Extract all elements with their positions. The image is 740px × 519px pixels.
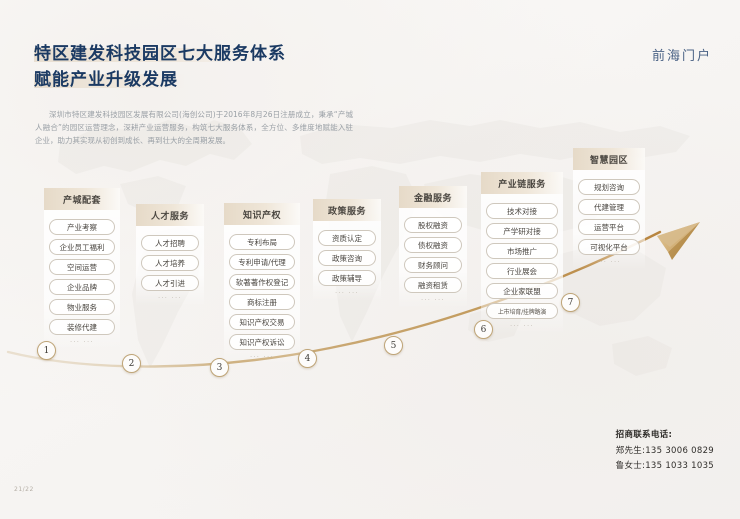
service-item[interactable]: 政策辅导 — [318, 270, 376, 286]
page-title: 特区建发科技园区七大服务体系 赋能产业升级发展 — [34, 41, 286, 93]
step-badge-3[interactable]: 3 — [210, 358, 229, 377]
service-item[interactable]: 知识产权诉讼 — [229, 334, 295, 350]
card-title: 产业链服务 — [498, 177, 546, 190]
contact-row-1[interactable]: 郑先生:135 3006 0829 — [616, 444, 714, 456]
step-badge-2[interactable]: 2 — [122, 354, 141, 373]
card-title: 产城配套 — [63, 193, 101, 206]
card-title: 金融服务 — [414, 191, 452, 204]
service-item[interactable]: 股权融资 — [404, 217, 462, 233]
service-item[interactable]: 财务顾问 — [404, 257, 462, 273]
step-badge-4[interactable]: 4 — [298, 349, 317, 368]
card-title: 知识产权 — [243, 208, 281, 221]
service-item[interactable]: 企业员工福利 — [49, 239, 115, 255]
service-item[interactable]: 行业展会 — [486, 263, 558, 279]
title-line-2: 赋能产业升级发展 — [34, 67, 286, 93]
card-header: 政策服务 — [313, 199, 381, 221]
service-card-7[interactable]: 智慧园区 规划咨询 代建管理 运营平台 可视化平台 ··· ··· — [573, 148, 645, 270]
more-dots: ··· ··· — [404, 297, 462, 304]
service-item[interactable]: 人才引进 — [141, 275, 199, 291]
service-item[interactable]: 产学研对接 — [486, 223, 558, 239]
card-header: 知识产权 — [224, 203, 300, 225]
contact-title: 招商联系电话: — [616, 428, 714, 440]
title-text-2: 赋能产业升级发展 — [34, 70, 178, 90]
title-line-1: 特区建发科技园区七大服务体系 — [34, 41, 286, 67]
service-card-4[interactable]: 政策服务 资质认定 政策咨询 政策辅导 ··· ··· — [313, 199, 381, 301]
service-item[interactable]: 知识产权交易 — [229, 314, 295, 330]
card-title: 政策服务 — [328, 204, 366, 217]
page-number: 21/22 — [14, 486, 34, 493]
service-item[interactable]: 产业考察 — [49, 219, 115, 235]
more-dots: ··· ··· — [486, 323, 558, 330]
card-header: 产城配套 — [44, 188, 120, 210]
step-badge-7[interactable]: 7 — [561, 293, 580, 312]
service-item[interactable]: 债权融资 — [404, 237, 462, 253]
contact-block: 招商联系电话: 郑先生:135 3006 0829 鲁女士:135 1033 1… — [616, 428, 714, 474]
step-badge-5[interactable]: 5 — [384, 336, 403, 355]
card-body: 专利布局 专利申请/代理 软著著作权登记 商标注册 知识产权交易 知识产权诉讼 … — [224, 225, 300, 361]
service-item[interactable]: 代建管理 — [578, 199, 640, 215]
more-dots: ··· ··· — [141, 295, 199, 302]
service-item[interactable]: 专利布局 — [229, 234, 295, 250]
service-card-6[interactable]: 产业链服务 技术对接 产学研对接 市场推广 行业展会 企业家联盟 上市培育/挂牌… — [481, 172, 563, 334]
service-item[interactable]: 技术对接 — [486, 203, 558, 219]
service-card-2[interactable]: 人才服务 人才招聘 人才培养 人才引进 ··· ··· — [136, 204, 204, 306]
more-dots: ··· ··· — [578, 259, 640, 266]
service-item[interactable]: 物业服务 — [49, 299, 115, 315]
service-item[interactable]: 融资租赁 — [404, 277, 462, 293]
service-item[interactable]: 市场推广 — [486, 243, 558, 259]
paper-plane-icon — [657, 222, 700, 260]
intro-paragraph: 深圳市特区建发科技园区发展有限公司(海创公司)于2016年8月26日注册成立，秉… — [35, 108, 353, 148]
more-dots: ··· ··· — [229, 354, 295, 361]
service-item[interactable]: 企业家联盟 — [486, 283, 558, 299]
card-header: 金融服务 — [399, 186, 467, 208]
step-badge-6[interactable]: 6 — [474, 320, 493, 339]
slide-page: 特区建发科技园区七大服务体系 赋能产业升级发展 前海门户 深圳市特区建发科技园区… — [0, 0, 740, 519]
service-item-small[interactable]: 上市培育/挂牌路演 — [486, 303, 558, 319]
service-item[interactable]: 运营平台 — [578, 219, 640, 235]
contact-row-2[interactable]: 鲁女士:135 1033 1035 — [616, 459, 714, 471]
service-card-5[interactable]: 金融服务 股权融资 债权融资 财务顾问 融资租赁 ··· ··· — [399, 186, 467, 308]
service-item[interactable]: 人才培养 — [141, 255, 199, 271]
card-header: 人才服务 — [136, 204, 204, 226]
service-item[interactable]: 商标注册 — [229, 294, 295, 310]
more-dots: ··· ··· — [49, 339, 115, 346]
service-card-3[interactable]: 知识产权 专利布局 专利申请/代理 软著著作权登记 商标注册 知识产权交易 知识… — [224, 203, 300, 365]
title-text-1: 特区建发科技园区七大服务体系 — [34, 44, 286, 64]
card-title: 智慧园区 — [590, 153, 628, 166]
step-badge-1[interactable]: 1 — [37, 341, 56, 360]
card-header: 产业链服务 — [481, 172, 563, 194]
brand-label: 前海门户 — [652, 45, 712, 64]
card-body: 股权融资 债权融资 财务顾问 融资租赁 ··· ··· — [399, 208, 467, 304]
service-item[interactable]: 可视化平台 — [578, 239, 640, 255]
service-item[interactable]: 资质认定 — [318, 230, 376, 246]
card-title: 人才服务 — [151, 209, 189, 222]
card-body: 技术对接 产学研对接 市场推广 行业展会 企业家联盟 上市培育/挂牌路演 ···… — [481, 194, 563, 330]
service-card-1[interactable]: 产城配套 产业考察 企业员工福利 空间运营 企业品牌 物业服务 装修代建 ···… — [44, 188, 120, 350]
service-item[interactable]: 政策咨询 — [318, 250, 376, 266]
service-item[interactable]: 专利申请/代理 — [229, 254, 295, 270]
card-body: 资质认定 政策咨询 政策辅导 ··· ··· — [313, 221, 381, 297]
service-item[interactable]: 人才招聘 — [141, 235, 199, 251]
more-dots: ··· ··· — [318, 290, 376, 297]
card-body: 产业考察 企业员工福利 空间运营 企业品牌 物业服务 装修代建 ··· ··· — [44, 210, 120, 346]
service-item[interactable]: 软著著作权登记 — [229, 274, 295, 290]
service-item[interactable]: 企业品牌 — [49, 279, 115, 295]
service-item[interactable]: 规划咨询 — [578, 179, 640, 195]
card-header: 智慧园区 — [573, 148, 645, 170]
service-item[interactable]: 装修代建 — [49, 319, 115, 335]
card-body: 人才招聘 人才培养 人才引进 ··· ··· — [136, 226, 204, 302]
card-body: 规划咨询 代建管理 运营平台 可视化平台 ··· ··· — [573, 170, 645, 266]
service-item[interactable]: 空间运营 — [49, 259, 115, 275]
